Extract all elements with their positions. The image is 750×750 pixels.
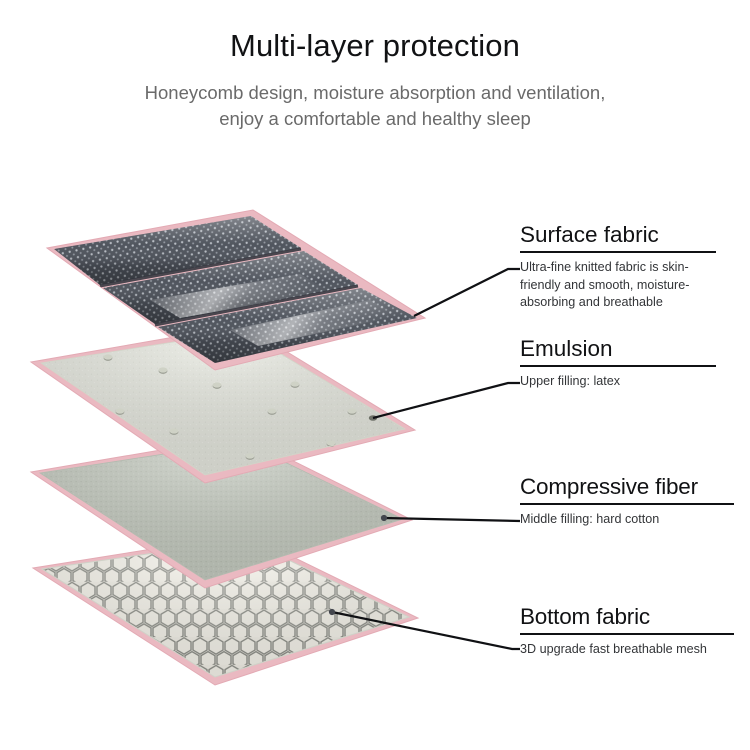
subtitle-line-2: enjoy a comfortable and healthy sleep bbox=[0, 106, 750, 132]
callout-description-compressive-fiber: Middle filling: hard cotton bbox=[520, 511, 732, 528]
surface-fabric-layer bbox=[47, 210, 425, 370]
leader-line-surface bbox=[414, 269, 520, 316]
header: Multi-layer protection Honeycomb design,… bbox=[0, 0, 750, 132]
page-title: Multi-layer protection bbox=[0, 0, 750, 64]
callout-emulsion: Emulsion Upper filling: latex bbox=[520, 336, 750, 391]
callout-rule-compressive-fiber bbox=[520, 503, 734, 505]
callout-headline-compressive-fiber: Compressive fiber bbox=[520, 474, 750, 499]
callout-surface-fabric: Surface fabric Ultra-fine knitted fabric… bbox=[520, 222, 750, 311]
leader-line-emulsion bbox=[373, 383, 520, 418]
callout-rule-bottom-fabric bbox=[520, 633, 734, 635]
callout-description-surface-fabric: Ultra-fine knitted fabric is skin-friend… bbox=[520, 259, 702, 311]
callout-headline-surface-fabric: Surface fabric bbox=[520, 222, 750, 247]
callout-headline-bottom-fabric: Bottom fabric bbox=[520, 604, 750, 629]
page-subtitle: Honeycomb design, moisture absorption an… bbox=[0, 64, 750, 133]
callout-headline-emulsion: Emulsion bbox=[520, 336, 750, 361]
callout-rule-emulsion bbox=[520, 365, 716, 367]
callout-compressive-fiber: Compressive fiber Middle filling: hard c… bbox=[520, 474, 750, 529]
callout-description-emulsion: Upper filling: latex bbox=[520, 373, 702, 390]
callout-bottom-fabric: Bottom fabric 3D upgrade fast breathable… bbox=[520, 604, 750, 659]
callout-description-bottom-fabric: 3D upgrade fast breathable mesh bbox=[520, 641, 732, 658]
subtitle-line-1: Honeycomb design, moisture absorption an… bbox=[0, 80, 750, 106]
callout-rule-surface-fabric bbox=[520, 251, 716, 253]
